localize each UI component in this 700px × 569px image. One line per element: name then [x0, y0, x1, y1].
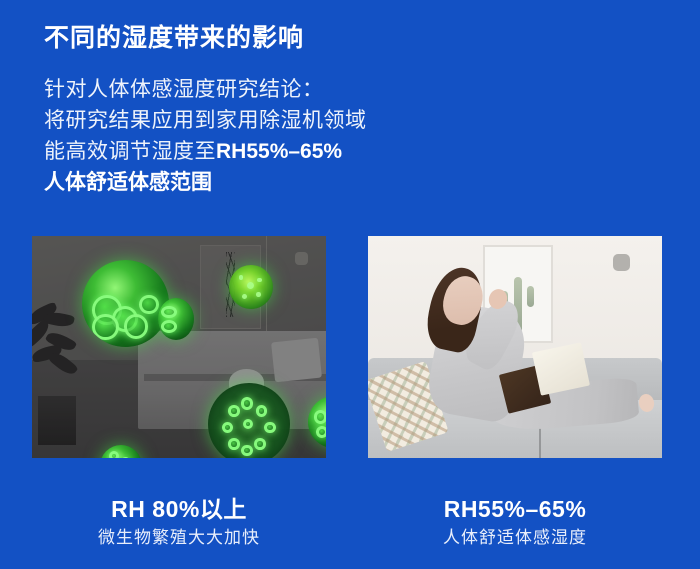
microbe-bleb [228, 438, 239, 449]
comparison-photos [0, 236, 700, 460]
caption-comfort-humidity-subtitle: 人体舒适体感湿度 [368, 527, 662, 549]
microbe-spec [242, 294, 247, 299]
body-line-3: 能高效调节湿度至RH55%–65% [44, 136, 524, 167]
microbe-bleb [256, 405, 267, 416]
photo-high-humidity [32, 236, 326, 458]
microbe-bleb [222, 422, 233, 433]
microbe-sphere-icon [229, 265, 273, 309]
caption-high-humidity: RH 80%以上 微生物繁殖大大加快 [32, 495, 326, 549]
photo-comfort-humidity [368, 236, 662, 458]
body-line-4: 人体舒适体感范围 [44, 167, 524, 198]
microbe-bleb [139, 295, 158, 314]
body-line-2: 将研究结果应用到家用除湿机领域 [44, 105, 524, 136]
microbe-bleb [92, 314, 118, 340]
microbe-bleb [241, 445, 252, 456]
body-line-3-regular: 能高效调节湿度至 [44, 140, 216, 163]
microbe-spec [257, 278, 261, 282]
microbe-bleb [264, 422, 275, 433]
microbe-spec [256, 292, 260, 296]
microbe-bleb [314, 410, 326, 424]
body-line-3-highlight: RH55%–65% [216, 140, 342, 163]
microbe-bleb [228, 405, 239, 416]
microbe-bleb [124, 314, 148, 338]
microbe-bleb [316, 426, 326, 438]
body-copy: 针对人体体感湿度研究结论： 将研究结果应用到家用除湿机领域 能高效调节湿度至RH… [44, 74, 524, 198]
page-title: 不同的湿度带来的影响 [44, 18, 304, 54]
caption-comfort-humidity: RH55%–65% 人体舒适体感湿度 [368, 495, 662, 549]
wall-speaker [613, 254, 630, 271]
microbe-spec [247, 282, 254, 289]
bright-room-scene [368, 236, 662, 458]
microbe-bleb [161, 306, 177, 319]
dim-room-scene [32, 236, 326, 458]
microbe-bleb [109, 451, 119, 458]
caption-high-humidity-subtitle: 微生物繁殖大大加快 [32, 527, 326, 549]
microbe-sphere-icon [82, 260, 169, 347]
microbe-bleb [121, 457, 130, 458]
microbe-bleb [243, 419, 254, 430]
microbe-bleb [241, 397, 253, 409]
caption-high-humidity-title: RH 80%以上 [32, 495, 326, 523]
microbe-bleb [161, 320, 177, 333]
microbe-spec [239, 275, 243, 279]
body-line-1: 针对人体体感湿度研究结论： [44, 74, 524, 105]
microbe-bleb [254, 438, 265, 449]
caption-comfort-humidity-title: RH55%–65% [368, 495, 662, 523]
